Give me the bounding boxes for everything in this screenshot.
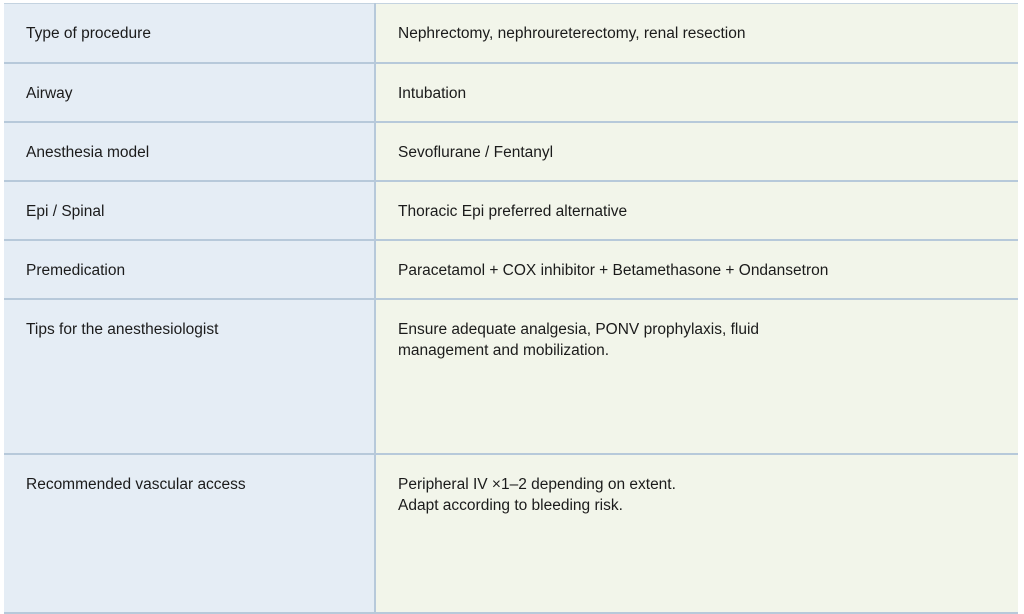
table-row: Anesthesia modelSevoflurane / Fentanyl — [4, 122, 1018, 181]
row-label-cell: Airway — [4, 63, 375, 122]
table-body: Type of procedureNephrectomy, nephrouret… — [4, 4, 1018, 613]
table-row: Tips for the anesthesiologistEnsure adeq… — [4, 299, 1018, 454]
table-container: Type of procedureNephrectomy, nephrouret… — [4, 3, 1018, 612]
row-label-text: Tips for the anesthesiologist — [26, 321, 218, 338]
row-label-cell: Anesthesia model — [4, 122, 375, 181]
row-value-line: Sevoflurane / Fentanyl — [398, 142, 1000, 163]
row-value-line: Nephrectomy, nephroureterectomy, renal r… — [398, 23, 1000, 44]
row-value-line: Intubation — [398, 83, 1000, 104]
row-value-line: Thoracic Epi preferred alternative — [398, 201, 1000, 222]
row-label-cell: Epi / Spinal — [4, 181, 375, 240]
row-label-cell: Premedication — [4, 240, 375, 299]
row-value-cell: Thoracic Epi preferred alternative — [375, 181, 1018, 240]
table-row: Recommended vascular accessPeripheral IV… — [4, 454, 1018, 613]
row-value-cell: Sevoflurane / Fentanyl — [375, 122, 1018, 181]
row-value-cell: Paracetamol + COX inhibitor + Betamethas… — [375, 240, 1018, 299]
row-label-text: Airway — [26, 85, 73, 102]
row-label-text: Epi / Spinal — [26, 203, 104, 220]
row-value-cell: Nephrectomy, nephroureterectomy, renal r… — [375, 4, 1018, 63]
row-value-line: Paracetamol + COX inhibitor + Betamethas… — [398, 260, 1000, 281]
row-value-line: Peripheral IV ×1–2 depending on extent. — [398, 474, 1000, 495]
table-row: Epi / SpinalThoracic Epi preferred alter… — [4, 181, 1018, 240]
table-row: AirwayIntubation — [4, 63, 1018, 122]
row-label-text: Premedication — [26, 262, 125, 279]
row-value-cell: Ensure adequate analgesia, PONV prophyla… — [375, 299, 1018, 454]
row-value-cell: Intubation — [375, 63, 1018, 122]
row-value-line: Ensure adequate analgesia, PONV prophyla… — [398, 319, 1000, 340]
table-row: PremedicationParacetamol + COX inhibitor… — [4, 240, 1018, 299]
table-row: Type of procedureNephrectomy, nephrouret… — [4, 4, 1018, 63]
row-label-cell: Tips for the anesthesiologist — [4, 299, 375, 454]
row-label-cell: Recommended vascular access — [4, 454, 375, 613]
row-label-cell: Type of procedure — [4, 4, 375, 63]
anesthesia-info-table: Type of procedureNephrectomy, nephrouret… — [4, 3, 1018, 614]
row-value-line: management and mobilization. — [398, 340, 1000, 361]
row-value-cell: Peripheral IV ×1–2 depending on extent.A… — [375, 454, 1018, 613]
row-value-line: Adapt according to bleeding risk. — [398, 495, 1000, 516]
row-label-text: Type of procedure — [26, 25, 151, 42]
row-label-text: Recommended vascular access — [26, 476, 246, 493]
row-label-text: Anesthesia model — [26, 144, 149, 161]
